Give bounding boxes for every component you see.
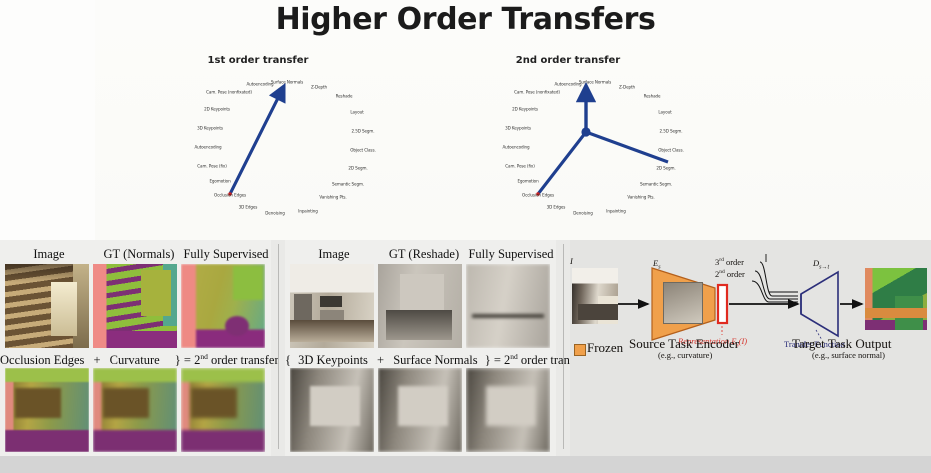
first-order-task-wheel: Surface Normals Autoencoding Z-Depth Cam…: [182, 66, 392, 236]
wheel2-node-18: Denoising: [573, 211, 592, 216]
transfer-schematic: I Es Ds→t 3rd order 2nd order Representa…: [570, 240, 931, 456]
wheel2-node-4: Reshade: [644, 94, 661, 99]
wheel1-node-2: Z-Depth: [311, 85, 327, 90]
col-head-left-2: Fully Supervised: [180, 247, 272, 262]
qualitative-panel-middle: Image GT (Reshade) Fully Supervised { 3D…: [285, 240, 556, 456]
wheel1-node-12: 2D Segm.: [348, 166, 367, 171]
wheel2-node-5: 2D Keypoints: [512, 107, 538, 112]
frozen-legend-label: Frozen: [587, 340, 623, 356]
input-label: I: [570, 256, 573, 266]
panel-left-caption-first: Occlusion Edges: [0, 353, 84, 367]
col-head-left-1: GT (Normals): [93, 247, 185, 262]
schematic-output-image: [865, 268, 927, 330]
panel-left-caption-tail: order transfer: [208, 353, 279, 367]
panel-left-caption-second: Curvature: [110, 353, 160, 367]
representation-math-arg: (I): [739, 336, 748, 346]
wheel1-node-8: 2.5D Segm.: [352, 129, 375, 134]
panel-left-image-supervised: [181, 264, 265, 348]
wheel2-node-8: 2.5D Segm.: [660, 129, 683, 134]
wheel1-node-7: 3D Keypoints: [197, 126, 223, 131]
wheel1-node-14: Semantic Segm.: [332, 182, 364, 187]
wheel2-node-17: 3D Edges: [547, 205, 566, 210]
second-order-word: order: [725, 269, 745, 279]
decoder-subscript: s→t: [819, 265, 829, 271]
third-order-word: order: [724, 257, 744, 267]
panel-left-caption-close: } = 2: [163, 353, 201, 367]
wheel1-node-4: Reshade: [336, 94, 353, 99]
panel-mid-image-gt-2: [378, 368, 462, 452]
wheel1-node-9: Autoencoding: [194, 145, 221, 150]
panel-left-caption-ordinal: nd: [200, 352, 208, 361]
encoder-subscript: s: [658, 265, 660, 271]
wheel1-node-17: 3D Edges: [239, 205, 258, 210]
wheel2-node-15: Occlusion Edges: [522, 193, 554, 198]
panel-mid-image-supervised-2: [466, 368, 550, 452]
panel-mid-image-rgb: [290, 264, 374, 348]
wheel1-node-19: Inpainting: [298, 209, 318, 214]
encoder-inner-image: [663, 282, 703, 324]
wheel2-node-7: 3D Keypoints: [505, 126, 531, 131]
panel-mid-caption-ordinal: nd: [510, 352, 518, 361]
decoder-symbol-label: Ds→t: [813, 258, 829, 271]
panel-left-caption-plus: +: [87, 353, 106, 367]
first-order-subtitle: 1st order transfer: [178, 55, 338, 66]
top-slide-area: Higher Order Transfers 1st order transfe…: [0, 0, 931, 240]
wheel2-node-14: Semantic Segm.: [640, 182, 672, 187]
slide-canvas: Higher Order Transfers 1st order transfe…: [0, 0, 931, 473]
panel-divider-1: [278, 244, 279, 449]
panel-mid-image-supervised: [466, 264, 550, 348]
wheel1-node-10: Object Class.: [350, 148, 375, 153]
panel-left-image-gt: [93, 264, 177, 348]
target-output-subtitle: (e.g., surface normal): [812, 350, 885, 360]
panel-divider-2: [563, 244, 564, 449]
third-order-label: 3rd order: [715, 257, 744, 267]
wheel2-node-1: Autoencoding: [554, 82, 581, 87]
qualitative-panel-left: Image GT (Normals) Fully Supervised Occl…: [0, 240, 271, 456]
schematic-input-image: [572, 268, 618, 324]
panel-left-image-rgb: [5, 264, 89, 348]
wheel1-node-0: Surface Normals: [271, 80, 303, 85]
encoder-symbol-label: Es: [653, 258, 661, 271]
wheel1-node-1: Autoencoding: [246, 82, 273, 87]
panel-left-caption: Occlusion Edges + Curvature } = 2nd orde…: [0, 352, 279, 368]
wheel1-node-15: Occlusion Edges: [214, 193, 246, 198]
wheel2-node-13: Egomotion: [517, 179, 538, 184]
panel-mid-image-rgb-2: [290, 368, 374, 452]
wheel1-node-11: Cam. Pose (fix): [197, 164, 226, 169]
second-order-task-wheel: Surface Normals Autoencoding Z-Depth Cam…: [490, 66, 700, 236]
wheel2-node-10: Object Class.: [658, 148, 683, 153]
wheel2-node-19: Inpainting: [606, 209, 626, 214]
panel-mid-caption-plus: +: [371, 353, 390, 367]
wheel2-node-2: Z-Depth: [619, 85, 635, 90]
second-order-label: 2nd order: [715, 269, 745, 279]
panel-mid-caption-second: Surface Normals: [393, 353, 477, 367]
panel-left-image-rgb-2: [5, 368, 89, 452]
frozen-legend-swatch: [574, 344, 586, 356]
wheel1-node-13: Egomotion: [209, 179, 230, 184]
panel-mid-caption-first: 3D Keypoints: [294, 353, 368, 367]
bottom-strip: [0, 456, 931, 473]
wheel1-node-6: Layout: [350, 110, 363, 115]
panel-mid-image-gt: [378, 264, 462, 348]
wheel1-node-5: 2D Keypoints: [204, 107, 230, 112]
panel-mid-caption-open: {: [285, 353, 291, 367]
panel-mid-caption: { 3D Keypoints + Surface Normals } = 2nd…: [285, 352, 589, 368]
wheel2-node-11: Cam. Pose (fix): [505, 164, 534, 169]
panel-left-image-gt-2: [93, 368, 177, 452]
wheel2-node-3: Cam. Pose (nonfixated): [514, 90, 560, 95]
wheel1-node-16: Vanishing Pts.: [319, 195, 346, 200]
wheel2-node-16: Vanishing Pts.: [627, 195, 654, 200]
col-head-mid-0: Image: [288, 247, 380, 262]
col-head-mid-1: GT (Reshade): [378, 247, 470, 262]
col-head-left-0: Image: [3, 247, 95, 262]
wheel1-node-3: Cam. Pose (nonfixated): [206, 90, 252, 95]
col-head-mid-2: Fully Supervised: [465, 247, 557, 262]
source-encoder-subtitle: (e.g., curvature): [658, 350, 712, 360]
wheel2-node-12: 2D Segm.: [656, 166, 675, 171]
wheel2-node-9: Autoencoding: [502, 145, 529, 150]
wheel1-node-18: Denoising: [265, 211, 284, 216]
panel-mid-caption-close: } = 2: [481, 353, 511, 367]
page-title: Higher Order Transfers: [0, 2, 931, 37]
wheel2-node-6: Layout: [658, 110, 671, 115]
second-order-subtitle: 2nd order transfer: [488, 55, 648, 66]
panel-left-image-supervised-2: [181, 368, 265, 452]
wheel2-node-0: Surface Normals: [579, 80, 611, 85]
